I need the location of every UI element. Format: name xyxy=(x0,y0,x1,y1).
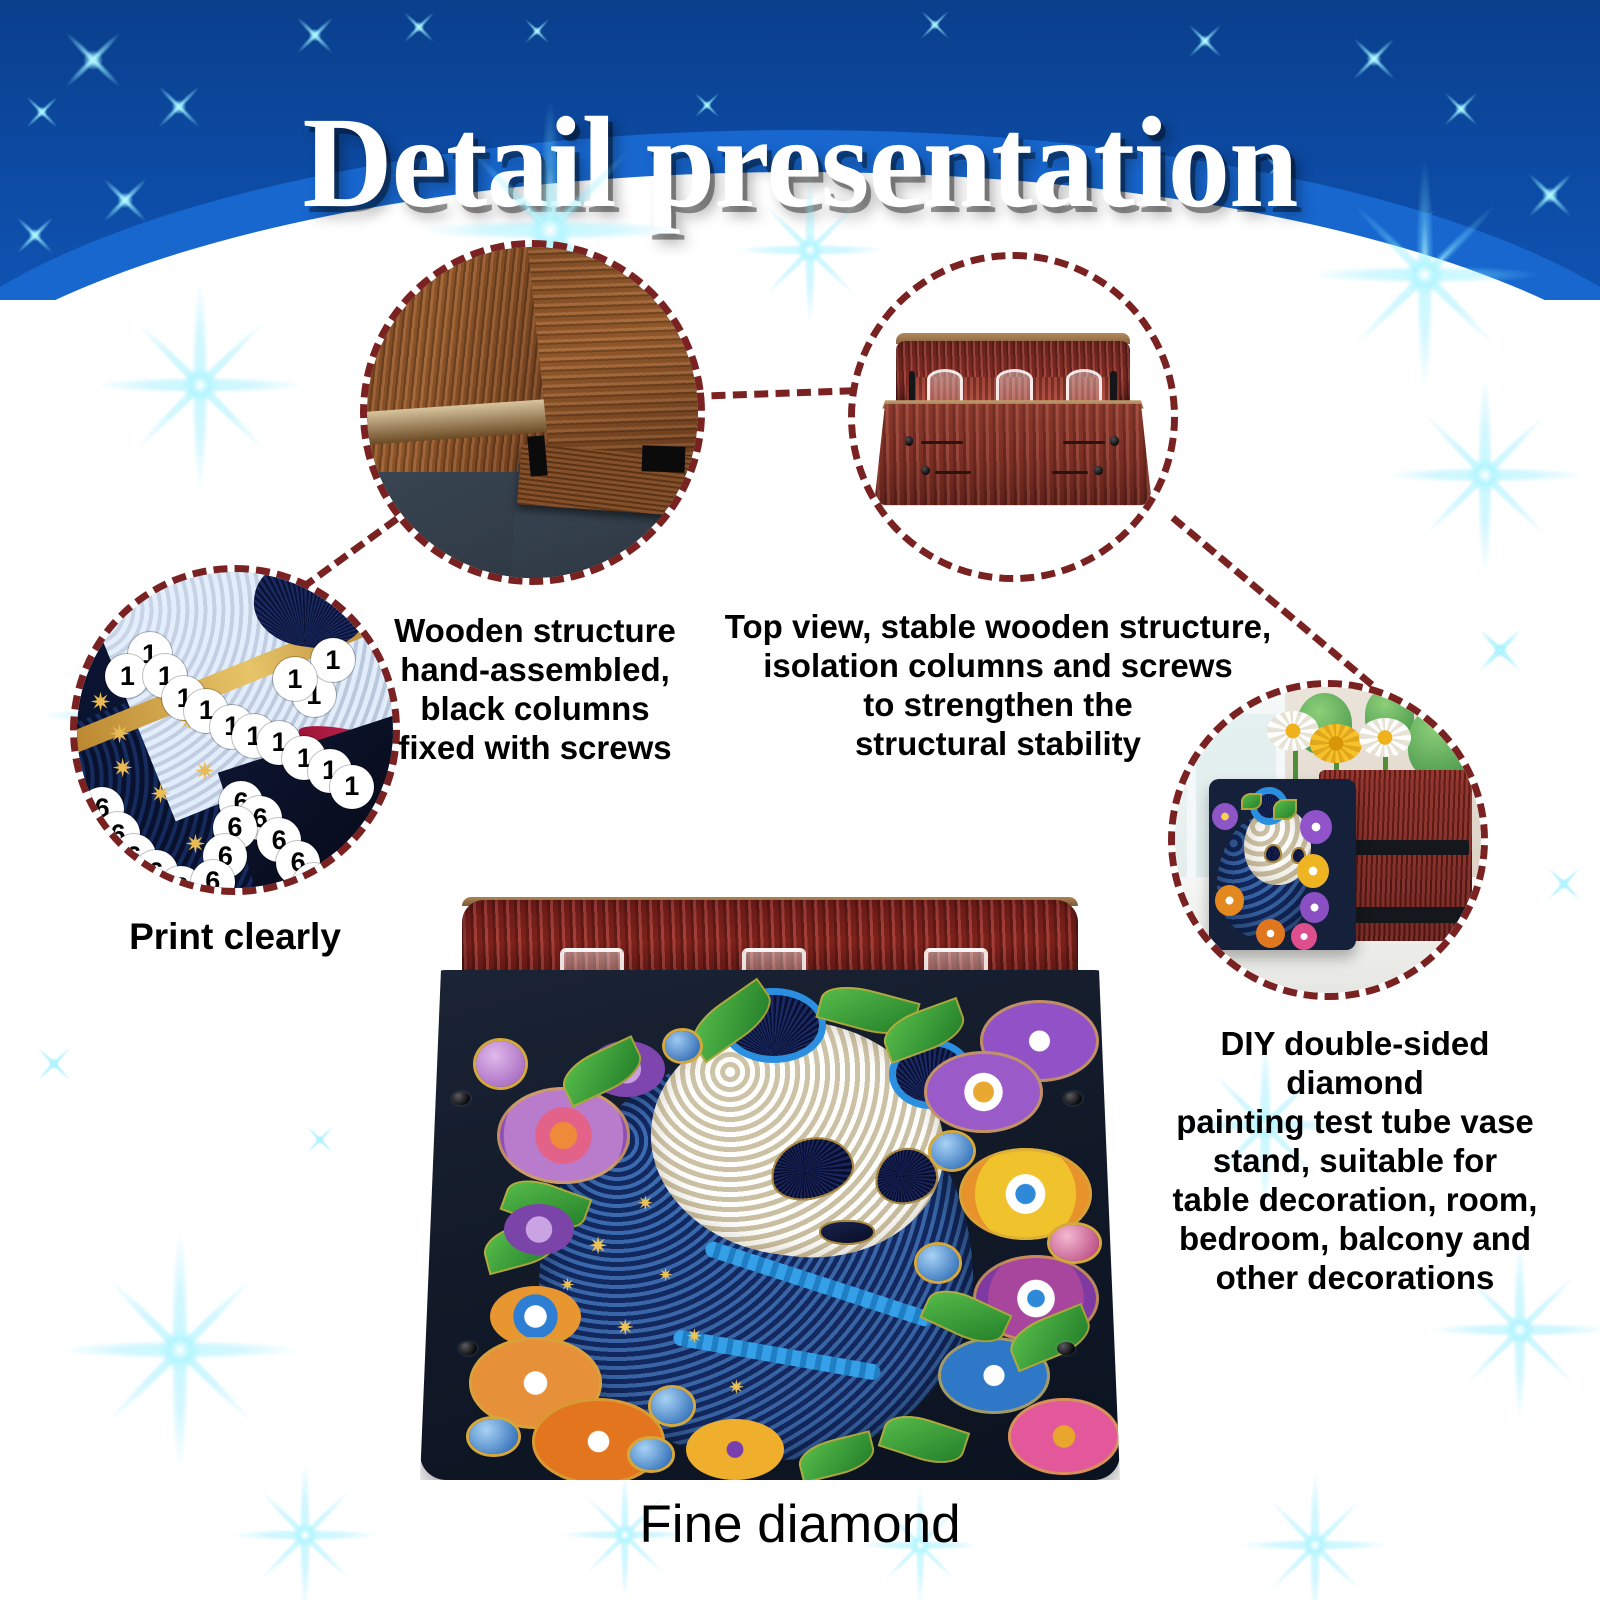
potted-plant xyxy=(1408,705,1475,778)
top-view-photo xyxy=(855,259,1171,575)
daisy-flower xyxy=(1359,718,1411,758)
caption-line: black columns xyxy=(370,690,700,729)
star-motif: ✷ xyxy=(728,1378,745,1398)
caption-line: isolation columns and screws xyxy=(718,647,1278,686)
caption-fine-diamond: Fine diamond xyxy=(400,1494,1200,1557)
caption-line: stand, suitable for xyxy=(1140,1142,1570,1181)
daisy-flower xyxy=(1310,724,1362,764)
caption-line: Top view, stable wooden structure, xyxy=(718,608,1278,647)
flower-decor xyxy=(1291,923,1317,950)
infographic-canvas: Detail presentation xyxy=(0,0,1600,1600)
caption-room-scene: DIY double-sided diamond painting test t… xyxy=(1140,1025,1570,1298)
sparkle-star xyxy=(30,1040,78,1088)
star-motif: ✷ xyxy=(637,1194,654,1214)
gem-stone xyxy=(630,1439,672,1470)
leaf-decor xyxy=(1273,799,1297,820)
star-motif: ✷ xyxy=(194,758,216,784)
sparkle-burst xyxy=(1240,1470,1390,1600)
flower-decor xyxy=(497,1087,630,1184)
star-motif: ✷ xyxy=(686,1327,703,1347)
caption-line: Fine diamond xyxy=(400,1494,1200,1557)
star-motif: ✷ xyxy=(588,1235,608,1259)
star-motif: ✷ xyxy=(109,721,131,747)
flower-decor xyxy=(924,1051,1043,1133)
gem-stone xyxy=(931,1133,973,1169)
star-motif: ✷ xyxy=(112,755,134,781)
caption-line: painting test tube vase xyxy=(1140,1103,1570,1142)
box-front-panel xyxy=(874,404,1152,506)
caption-line: Wooden structure xyxy=(370,612,700,651)
gem-stone xyxy=(476,1041,525,1087)
caption-line: table decoration, room, xyxy=(1140,1181,1570,1220)
star-motif: ✷ xyxy=(616,1317,634,1339)
slot-notch xyxy=(641,445,685,473)
screw-icon xyxy=(1110,436,1119,445)
panda-panel-mini xyxy=(1209,779,1356,950)
sparkle-burst xyxy=(230,1460,380,1600)
wood-corner-photo xyxy=(367,247,698,578)
flower-decor xyxy=(1300,810,1332,844)
main-product-image[interactable]: ✷ ✷ ✷ ✷ ✷ ✷ ✷ ✷ ✷ xyxy=(420,900,1120,1480)
flower-decor xyxy=(1256,919,1285,948)
screw-icon xyxy=(1064,1092,1082,1105)
tube-box xyxy=(874,341,1152,505)
gem-stone xyxy=(651,1388,693,1424)
header-banner: Detail presentation xyxy=(0,0,1600,300)
sparkle-burst xyxy=(60,1230,300,1470)
caption-line: to strengthen the xyxy=(718,686,1278,725)
caption-line: hand-assembled, xyxy=(370,651,700,690)
sparkle-star xyxy=(1470,620,1530,680)
caption-wood-structure: Wooden structure hand-assembled, black c… xyxy=(370,612,700,768)
callout-circle-wood-corner[interactable] xyxy=(360,240,705,585)
flower-decor xyxy=(686,1419,784,1480)
callout-circle-top-view[interactable] xyxy=(848,252,1178,582)
sparkle-star xyxy=(300,1120,340,1160)
caption-line: diamond xyxy=(1140,1064,1570,1103)
screw-icon xyxy=(452,1092,470,1105)
caption-print-clearly: Print clearly xyxy=(75,915,395,959)
gem-stone xyxy=(469,1419,518,1455)
slot-line xyxy=(935,471,971,474)
slot-line xyxy=(1052,471,1088,474)
caption-line: fixed with screws xyxy=(370,729,700,768)
number-label: 1 xyxy=(273,657,317,701)
caption-line: bedroom, balcony and xyxy=(1140,1220,1570,1259)
leaf-decor xyxy=(1241,793,1262,810)
screw-icon xyxy=(905,436,914,445)
caption-line: other decorations xyxy=(1140,1259,1570,1298)
page-title: Detail presentation xyxy=(32,95,1568,232)
number-label: 1 xyxy=(330,765,374,809)
flower-decor xyxy=(1297,854,1329,888)
gem-stone xyxy=(917,1245,959,1281)
flower-decor xyxy=(1008,1398,1120,1475)
gem-stone xyxy=(1050,1225,1099,1261)
product-front-panel: ✷ ✷ ✷ ✷ ✷ ✷ ✷ ✷ ✷ xyxy=(420,970,1120,1480)
slot-line xyxy=(921,441,963,444)
sparkle-burst xyxy=(95,280,305,490)
number-label: 1 xyxy=(311,638,355,682)
flower-decor xyxy=(1212,803,1238,830)
caption-top-view: Top view, stable wooden structure, isola… xyxy=(718,608,1278,764)
sparkle-burst xyxy=(1385,375,1585,575)
screw-icon xyxy=(1094,466,1103,475)
caption-line: structural stability xyxy=(718,725,1278,764)
caption-line: DIY double-sided xyxy=(1140,1025,1570,1064)
connector-line-wood-to-topview xyxy=(690,387,875,400)
caption-line: Print clearly xyxy=(75,915,395,959)
panda-eye xyxy=(1264,844,1282,863)
sparkle-star xyxy=(1540,860,1588,908)
callout-circle-print-clearly[interactable]: ✷ ✷ ✷ ✷ ✷ ✷ ✷ 1 1 1 1 1 1 1 1 1 1 1 1 1 … xyxy=(70,565,400,895)
flower-decor xyxy=(1300,892,1329,923)
star-motif: ✷ xyxy=(150,781,172,807)
slot-line xyxy=(1063,441,1105,444)
screw-icon xyxy=(1057,1342,1075,1355)
screw-icon xyxy=(459,1342,477,1355)
flower-decor xyxy=(1215,885,1244,916)
star-motif: ✷ xyxy=(658,1266,673,1284)
numbered-canvas-photo: ✷ ✷ ✷ ✷ ✷ ✷ ✷ 1 1 1 1 1 1 1 1 1 1 1 1 1 … xyxy=(77,572,393,888)
star-motif: ✷ xyxy=(90,689,112,715)
